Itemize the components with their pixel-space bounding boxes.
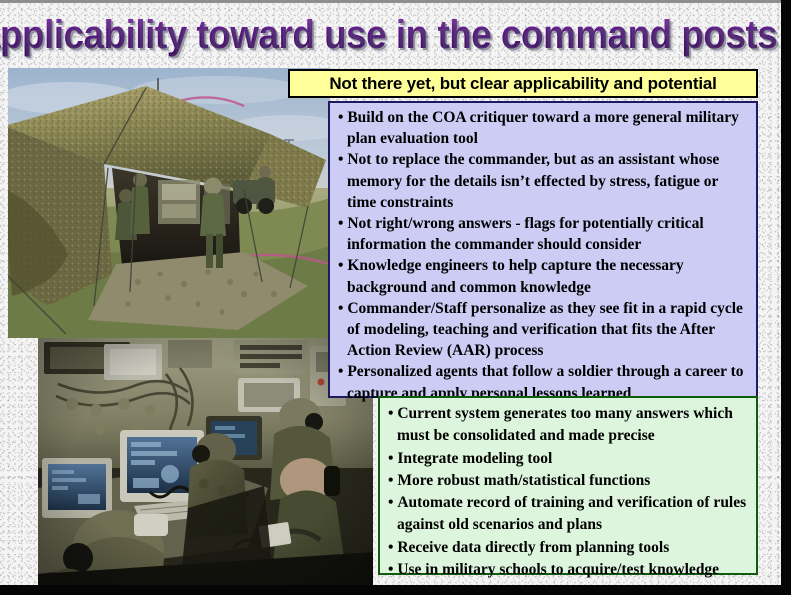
command-post-photo-artwork	[38, 338, 373, 585]
list-item: Not to replace the commander, but as an …	[338, 149, 750, 213]
list-item: Knowledge engineers to help capture the …	[338, 255, 750, 297]
mobile-command-post-photo	[38, 338, 373, 585]
headline-banner: Not there yet, but clear applicability a…	[288, 69, 758, 98]
issues-bullets-box: Current system generates too many answer…	[378, 396, 758, 575]
applicability-bullets-box: Build on the COA critiquer toward a more…	[328, 101, 758, 398]
slide-bottom-edge	[0, 585, 791, 595]
slide-title-bar: Issues and applicability toward use in t…	[8, 6, 773, 64]
tent-illustration-artwork	[8, 68, 330, 338]
list-item: Current system generates too many answer…	[388, 403, 750, 448]
slide-top-edge	[0, 0, 781, 3]
issues-bullet-list: Current system generates too many answer…	[388, 403, 750, 581]
slide-right-edge	[781, 0, 791, 595]
list-item: Not right/wrong answers - flags for pote…	[338, 213, 750, 255]
list-item: Build on the COA critiquer toward a more…	[338, 107, 750, 149]
list-item: Commander/Staff personalize as they see …	[338, 298, 750, 362]
applicability-bullet-list: Build on the COA critiquer toward a more…	[338, 107, 750, 404]
slide-title: Issues and applicability toward use in t…	[0, 13, 791, 57]
list-item: Automate record of training and verifica…	[388, 492, 750, 537]
command-post-tent-illustration	[8, 68, 330, 338]
list-item: Receive data directly from planning tool…	[388, 537, 750, 559]
list-item: Integrate modeling tool	[388, 448, 750, 470]
presentation-slide: Issues and applicability toward use in t…	[0, 0, 791, 595]
list-item: Use in military schools to acquire/test …	[388, 559, 750, 581]
list-item: More robust math/statistical functions	[388, 470, 750, 492]
headline-banner-text: Not there yet, but clear applicability a…	[329, 74, 716, 94]
